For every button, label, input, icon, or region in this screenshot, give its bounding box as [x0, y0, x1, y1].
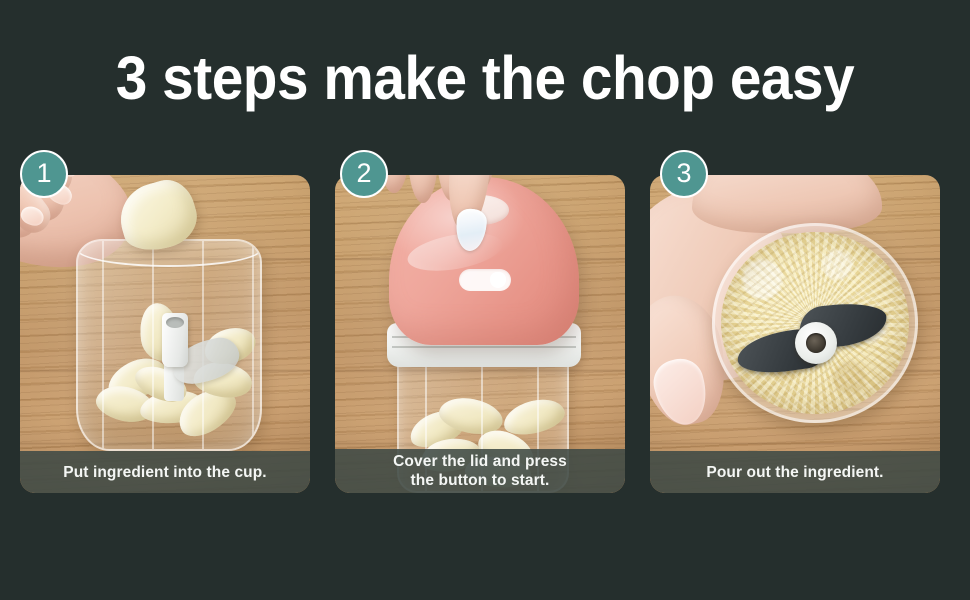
- finger: [408, 175, 438, 203]
- step-badge-1: 1: [20, 150, 68, 198]
- blade-3: [737, 298, 887, 382]
- step-panel-1: Put ingredient into the cup.: [20, 175, 310, 493]
- step-badge-2: 2: [340, 150, 388, 198]
- step-caption-2: Cover the lid and press the button to st…: [335, 449, 625, 493]
- chopper-cup-1: [76, 239, 262, 451]
- caption-line: Pour out the ingredient.: [706, 463, 883, 482]
- step-panel-2: Cover the lid and press the button to st…: [335, 175, 625, 493]
- chopper-cup-3: [712, 223, 918, 423]
- page-title: 3 steps make the chop easy: [34, 47, 936, 109]
- step-badge-3: 3: [660, 150, 708, 198]
- caption-line: Cover the lid and press: [393, 452, 567, 471]
- caption-line: Put ingredient into the cup.: [63, 463, 266, 482]
- step-caption-3: Pour out the ingredient.: [650, 451, 940, 493]
- lid-logo-badge: [459, 269, 511, 291]
- caption-line: the button to start.: [393, 471, 567, 490]
- blade-hub-1: [162, 313, 188, 367]
- step-caption-1: Put ingredient into the cup.: [20, 451, 310, 493]
- step-panel-3: Pour out the ingredient.: [650, 175, 940, 493]
- steps-row: Put ingredient into the cup.: [20, 175, 950, 493]
- blade-hub-3: [795, 322, 837, 364]
- fingers: [692, 175, 882, 233]
